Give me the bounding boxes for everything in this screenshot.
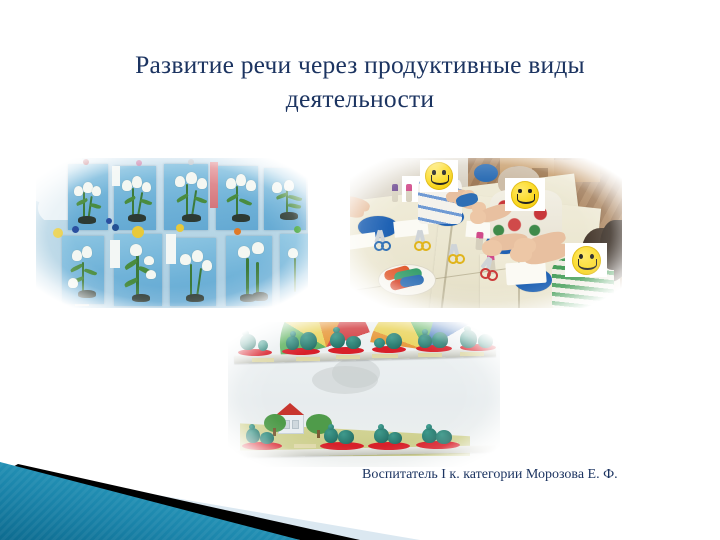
- image-children-craft: [350, 158, 622, 308]
- smiley-face-sticker: [565, 243, 607, 277]
- slide-canvas: Развитие речи через продуктивные виды де…: [0, 0, 720, 540]
- smiley-face-sticker: [420, 160, 458, 192]
- image-plasticine-shelf: [228, 322, 500, 467]
- pale-blue-triangle: [0, 468, 420, 540]
- black-stripe: [0, 464, 360, 540]
- image-children-craft-inner: [350, 158, 622, 308]
- teal-triangle-texture: [0, 462, 300, 540]
- page-title: Развитие речи через продуктивные виды де…: [60, 48, 660, 116]
- shelf-scene: [228, 322, 500, 467]
- flowers-scene: [36, 158, 308, 308]
- teal-triangle: [0, 462, 300, 540]
- image-flowers-artwork-inner: [36, 158, 308, 308]
- kids-scene: [350, 158, 622, 308]
- image-flowers-artwork: [36, 158, 308, 308]
- image-plasticine-shelf-inner: [228, 322, 500, 467]
- author-caption: Воспитатель I к. категории Морозова Е. Ф…: [362, 466, 618, 484]
- smiley-face-sticker: [505, 178, 545, 211]
